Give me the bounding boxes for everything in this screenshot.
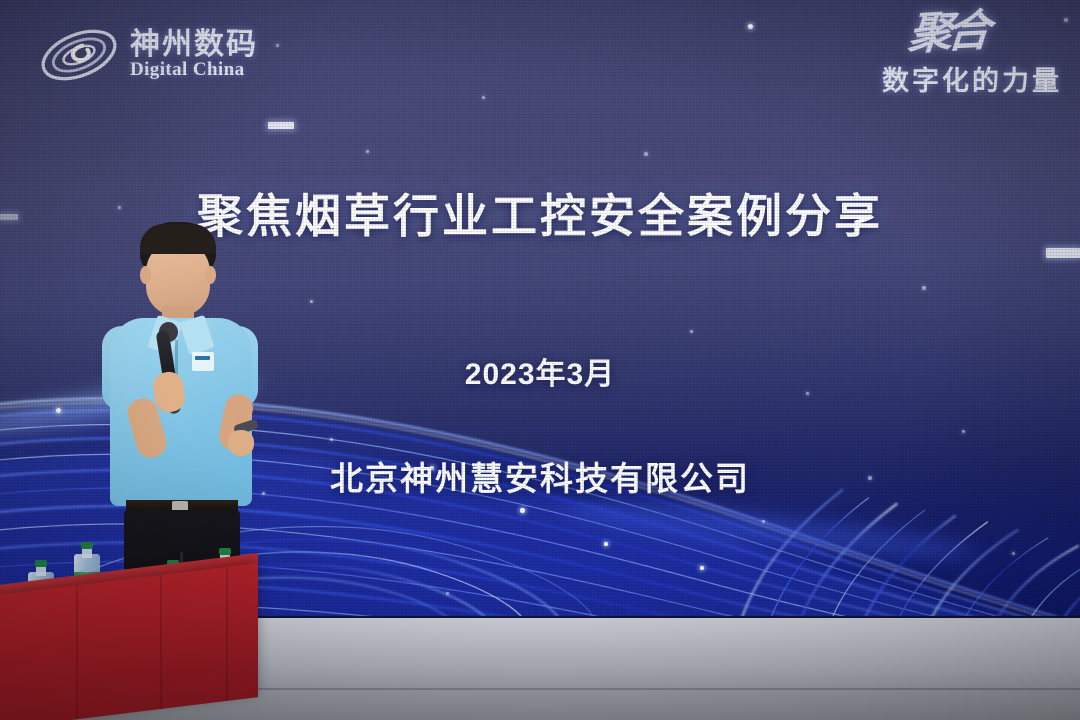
- speaker-ear-right: [205, 266, 216, 284]
- digital-china-swirl-icon: [38, 22, 120, 88]
- speaker-hair-front: [140, 224, 216, 254]
- event-logo: 聚合 数字化的力量: [797, 16, 1062, 116]
- bottle-cap: [219, 548, 231, 555]
- event-logo-subtitle: 数字化的力量: [797, 59, 1062, 98]
- particle: [1064, 18, 1068, 22]
- particle: [690, 330, 693, 333]
- particle: [748, 24, 753, 29]
- event-logo-mark: 聚合: [795, 11, 986, 61]
- drape-fold: [226, 567, 228, 701]
- particle: [310, 300, 313, 303]
- brand-name-chinese: 神州数码: [130, 29, 258, 61]
- particle: [482, 96, 485, 99]
- digital-china-logo: 神州数码 Digital China: [38, 16, 278, 94]
- speaker-ear-left: [140, 266, 151, 284]
- particle: [366, 150, 369, 153]
- swirl-svg: [38, 22, 120, 88]
- speaker-hand-right: [228, 430, 254, 456]
- brand-name-english: Digital China: [130, 60, 258, 81]
- digital-china-wordmark: 神州数码 Digital China: [130, 29, 258, 81]
- stage-photo: 神州数码 Digital China 聚合 数字化的力量 聚焦烟草行业工控安全案…: [0, 0, 1080, 720]
- speaker-chest-logo: [192, 352, 214, 371]
- wall-light-bar: [1046, 248, 1080, 258]
- bottle-cap: [81, 542, 93, 549]
- bottle-cap: [35, 560, 47, 567]
- drape-fold: [160, 575, 162, 709]
- drape-fold: [76, 585, 78, 719]
- particle: [922, 286, 926, 290]
- particle: [644, 152, 648, 156]
- wall-light-bar: [268, 122, 294, 129]
